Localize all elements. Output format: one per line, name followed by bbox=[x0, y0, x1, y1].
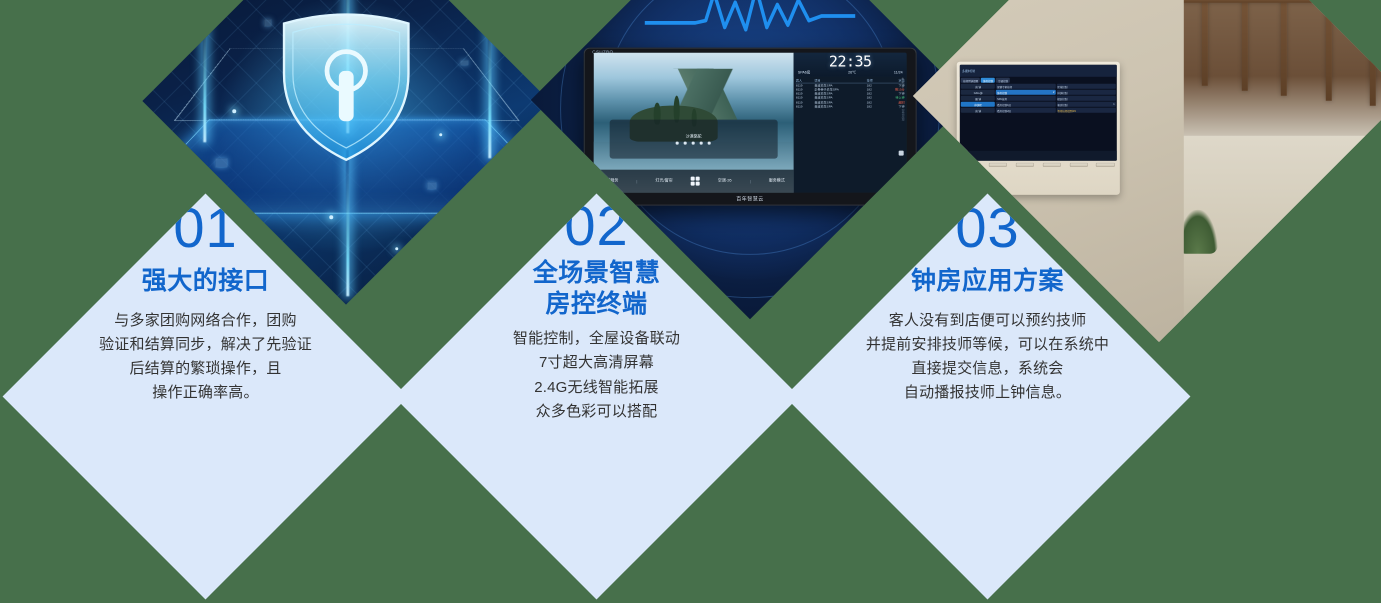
wooden-rail-post bbox=[1242, 0, 1248, 91]
play-icon[interactable] bbox=[684, 142, 687, 145]
circuit-chip bbox=[427, 182, 436, 189]
card-number: 02 bbox=[564, 197, 628, 253]
toolbar-item-call-service[interactable]: 呼叫服务 bbox=[602, 178, 618, 184]
wooden-rail-post bbox=[1281, 0, 1287, 96]
glow-dot bbox=[485, 19, 488, 22]
glow-dot bbox=[232, 109, 236, 113]
card-description-line: 与多家团购网络合作，团购 bbox=[99, 308, 312, 332]
clock-temperature: 26℃ bbox=[848, 71, 856, 75]
panel-key[interactable] bbox=[1016, 163, 1034, 167]
card-title: 强大的接口 bbox=[142, 265, 270, 296]
clock-room-label: SPA6房 bbox=[798, 70, 811, 75]
table-row: 8119 音波养生SPA 182 下钟 bbox=[796, 104, 905, 108]
guest-session-table: 宾人 项目 技师 状态 8119 音波养生SPA 182 下钟 bbox=[794, 76, 907, 192]
panel-list-item[interactable]: 保健专家技师 bbox=[996, 84, 1055, 89]
prev-icon[interactable] bbox=[676, 142, 679, 145]
toolbar-item-light-curtain[interactable]: 灯光/窗帘 bbox=[655, 178, 672, 184]
panel-key[interactable] bbox=[962, 163, 980, 167]
light-beam-right bbox=[489, 3, 492, 158]
panel-header-title: 多媒体控制 bbox=[962, 69, 975, 73]
card-description-line: 众多色彩可以搭配 bbox=[513, 399, 680, 423]
card-number: 01 bbox=[173, 199, 237, 255]
app-grid-icon[interactable] bbox=[691, 176, 700, 185]
panel-list-item-selected[interactable]: 钟房控制2 bbox=[996, 90, 1055, 95]
screen-info-panel: 22:35 SPA6房 26℃ 11/24 宾人 项目 技师 bbox=[794, 52, 907, 192]
wall-control-panel-device[interactable]: 多媒体控制 技师到钟提醒 钟房控制 空调控制 直 钟 CALL钟 圈 钟 停钟区 bbox=[957, 62, 1119, 195]
media-controls[interactable] bbox=[676, 142, 711, 145]
card-description-line: 智能控制，全屋设备联动 bbox=[513, 326, 680, 350]
volume-icon[interactable] bbox=[700, 142, 703, 145]
panel-key[interactable] bbox=[1096, 163, 1114, 167]
light-beam-left bbox=[203, 3, 206, 142]
panel-list-item[interactable]: 区域控制 bbox=[1056, 84, 1115, 89]
toolbar-divider: | bbox=[750, 179, 751, 184]
panel-chip[interactable]: CALL钟 bbox=[961, 90, 995, 95]
card-title-line: 全场景智慧 bbox=[533, 257, 661, 288]
home-button-icon[interactable] bbox=[899, 151, 904, 156]
tree-silhouette bbox=[674, 95, 680, 122]
panel-list-item[interactable]: 楼层控制 bbox=[1056, 96, 1115, 101]
toolbar-item-air-conditioner[interactable]: 空调·26 bbox=[718, 178, 732, 184]
panel-list-item[interactable]: 看房控制1层 bbox=[996, 102, 1055, 107]
next-icon[interactable] bbox=[692, 142, 695, 145]
column-header-tech: 技师 bbox=[867, 78, 884, 82]
room-control-tablet-device[interactable]: CSUZBO 沙漠骆驼 bbox=[583, 47, 916, 205]
potted-plant bbox=[1332, 253, 1366, 293]
tablet-logo-text: 百年智慧云 bbox=[583, 196, 916, 203]
column-header-guest: 宾人 bbox=[796, 78, 813, 82]
toolbar-divider: | bbox=[636, 179, 637, 184]
panel-body: 直 钟 CALL钟 圈 钟 停钟区 直 钟 保健专家技师 钟房控制2 SPA技师… bbox=[960, 83, 1116, 150]
tablet-side-indicators bbox=[902, 78, 904, 88]
tablet-logo-subtext: Hai Chen Zhi Hui Yi Jia Yi Yuan bbox=[886, 195, 909, 203]
clock-meta-row: SPA6房 26℃ 11/24 bbox=[797, 69, 904, 75]
screen-wallpaper-panel: 沙漠骆驼 呼叫服务 | 灯光/窗 bbox=[593, 52, 794, 192]
card-description-line: 2.4G无线智能拓展 bbox=[513, 375, 680, 399]
card-description: 客人没有到店便可以预约技师 并提前安排技师等候，可以在系统中 直接提交信息，系统… bbox=[866, 308, 1109, 405]
clock-date: 11/24 bbox=[894, 71, 903, 75]
card-description-line: 并提前安排技师等候，可以在系统中 bbox=[866, 332, 1109, 356]
media-track-title: 沙漠骆驼 bbox=[686, 134, 702, 140]
card-description-line: 自动播报技师上钟信息。 bbox=[866, 381, 1109, 405]
light-beam-bottom bbox=[346, 150, 349, 297]
card-description-line: 直接提交信息，系统会 bbox=[866, 357, 1109, 381]
panel-mid-list[interactable]: 保健专家技师 钟房控制2 SPA技师 看房控制1层 看房控制2层 bbox=[996, 84, 1055, 149]
pulse-waveform-icon bbox=[645, 0, 856, 34]
circuit-chip bbox=[460, 60, 468, 65]
panel-list-item[interactable]: 客房控制1 bbox=[1056, 102, 1115, 107]
clock-widget: 22:35 SPA6房 26℃ 11/24 bbox=[794, 52, 907, 76]
card-description-line: 验证和结算同步，解决了先验证 bbox=[99, 332, 312, 356]
panel-hardware-keys[interactable] bbox=[960, 161, 1116, 167]
media-player-widget[interactable]: 沙漠骆驼 bbox=[609, 120, 778, 159]
panel-chip[interactable]: 圈 钟 bbox=[961, 96, 995, 101]
panel-list-item[interactable]: 排钟控制 bbox=[1056, 90, 1115, 95]
card-description: 与多家团购网络合作，团购 验证和结算同步，解决了先验证 后结算的繁琐操作，且 操… bbox=[99, 308, 312, 405]
wooden-rail-post bbox=[1202, 0, 1208, 86]
panel-chip[interactable]: 直 钟 bbox=[961, 108, 995, 113]
panel-key[interactable] bbox=[989, 163, 1007, 167]
circuit-chip bbox=[216, 158, 228, 167]
panel-key[interactable] bbox=[1069, 163, 1087, 167]
potted-plant bbox=[1178, 210, 1218, 254]
card-number: 03 bbox=[955, 199, 1019, 255]
card-description-line: 7寸超大高清屏幕 bbox=[513, 351, 680, 375]
card-description-line: 后结算的繁琐操作，且 bbox=[99, 357, 312, 381]
promo-banner: CSUZBO 沙漠骆驼 bbox=[0, 0, 1381, 603]
panel-right-list[interactable]: 区域控制 排钟控制 楼层控制 客房控制1 等待技师请到3/4 bbox=[1056, 84, 1115, 149]
shield-hologram bbox=[260, 3, 431, 166]
list-icon[interactable] bbox=[708, 142, 711, 145]
potted-plant bbox=[1235, 251, 1287, 313]
card-description-line: 操作正确率高。 bbox=[99, 381, 312, 405]
card-title: 钟房应用方案 bbox=[911, 265, 1064, 296]
wooden-rail-post bbox=[1325, 0, 1331, 101]
status-dot-icon bbox=[966, 155, 968, 157]
control-panel-screen[interactable]: 多媒体控制 技师到钟提醒 钟房控制 空调控制 直 钟 CALL钟 圈 钟 停钟区 bbox=[960, 65, 1116, 161]
card-description-line: 客人没有到店便可以预约技师 bbox=[866, 308, 1109, 332]
column-header-item: 项目 bbox=[814, 78, 865, 82]
panel-chip[interactable]: 直 钟 bbox=[961, 84, 995, 89]
status-dot-icon bbox=[962, 155, 964, 157]
panel-list-item[interactable]: SPA技师 bbox=[996, 96, 1055, 101]
panel-status-footer bbox=[960, 150, 1116, 161]
card-title-line: 房控终端 bbox=[533, 288, 661, 319]
panel-chip-selected[interactable]: 停钟区 bbox=[961, 102, 995, 107]
wooden-rail-post bbox=[1370, 0, 1376, 106]
toolbar-item-service-mode[interactable]: 服务模式 bbox=[769, 178, 785, 184]
clock-time: 22:35 bbox=[797, 54, 904, 69]
panel-header: 多媒体控制 bbox=[960, 65, 1116, 78]
panel-key[interactable] bbox=[1043, 163, 1061, 167]
panel-list-item[interactable]: 看房控制2层 bbox=[996, 108, 1055, 113]
panel-left-chip-column[interactable]: 直 钟 CALL钟 圈 钟 停钟区 直 钟 bbox=[961, 84, 995, 149]
tablet-bottom-toolbar[interactable]: 呼叫服务 | 灯光/窗帘 空调·26 | 服务模式 bbox=[593, 170, 794, 192]
tablet-side-label: 智慧房控 bbox=[901, 108, 905, 120]
card-title: 全场景智慧 房控终端 bbox=[533, 257, 661, 318]
card-description: 智能控制，全屋设备联动 7寸超大高清屏幕 2.4G无线智能拓展 众多色彩可以搭配 bbox=[513, 326, 680, 423]
tablet-screen[interactable]: 沙漠骆驼 呼叫服务 | 灯光/窗 bbox=[593, 52, 906, 192]
panel-list-item-warning[interactable]: 等待技师请到3/4 bbox=[1056, 108, 1115, 113]
wooden-rail-beam bbox=[1164, 0, 1381, 3]
